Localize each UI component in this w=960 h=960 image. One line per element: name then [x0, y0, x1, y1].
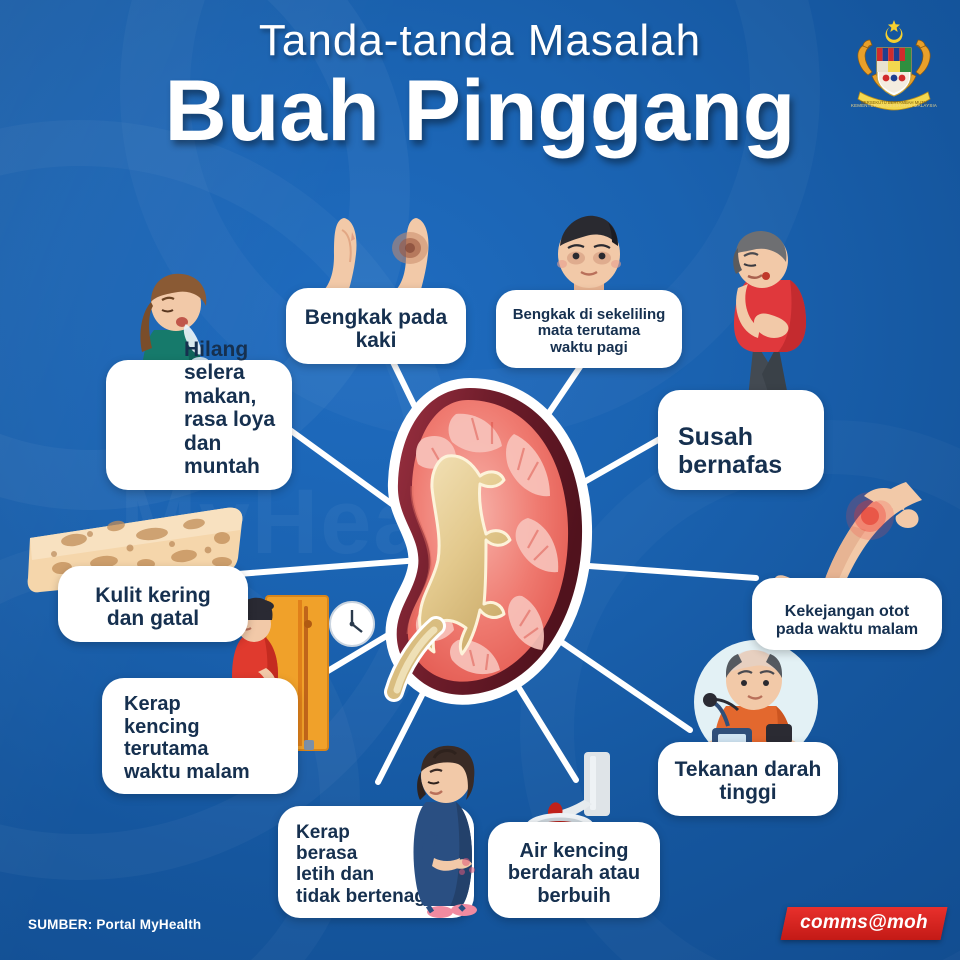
- symptom-card-tekanan-darah[interactable]: Tekanan darah tinggi: [658, 742, 838, 816]
- symptom-card-bengkak-kaki[interactable]: Bengkak pada kaki: [286, 288, 466, 364]
- symptom-label: Kulit kering dan gatal: [68, 584, 238, 631]
- page-title: Buah Pinggang: [0, 68, 960, 156]
- comms-moh-badge[interactable]: comms@moh: [781, 907, 948, 940]
- symptom-card-kerap-kencing[interactable]: Kerap kencing terutama waktu malam: [102, 678, 298, 794]
- symptom-label: Bengkak pada kaki: [296, 306, 456, 353]
- symptom-label: Tekanan darah tinggi: [668, 758, 828, 805]
- symptom-card-kerap-letih[interactable]: Kerap berasa letih dan tidak bertenaga: [278, 806, 474, 918]
- symptom-card-air-kencing[interactable]: Air kencing berdarah atau berbuih: [488, 822, 660, 918]
- source-credit: SUMBER: Portal MyHealth: [28, 917, 201, 932]
- symptom-label: Kerap berasa letih dan tidak bertenaga: [288, 822, 464, 907]
- symptom-label: Kekejangan otot pada waktu malam: [762, 603, 932, 639]
- symptom-label: Air kencing berdarah atau berbuih: [498, 840, 650, 907]
- malaysia-coat-of-arms-icon: BERSEKUTU BERTAMBAH MUTU KEMENTERIAN KES…: [846, 14, 942, 114]
- poster-header: Tanda-tanda Masalah Buah Pinggang: [0, 16, 960, 156]
- symptom-label: Susah bernafas: [668, 423, 814, 479]
- symptom-label: Kerap kencing terutama waktu malam: [112, 693, 288, 783]
- symptom-label: Hilang selera makan, rasa loya dan munta…: [116, 338, 282, 479]
- symptom-card-kekejangan-otot[interactable]: Kekejangan otot pada waktu malam: [752, 578, 942, 650]
- symptom-card-kulit-kering[interactable]: Kulit kering dan gatal: [58, 566, 248, 642]
- infographic-poster: MyHealth Tanda-tanda Masalah Buah Pingga…: [0, 0, 960, 960]
- symptom-card-bengkak-mata[interactable]: Bengkak di sekeliling mata terutama wakt…: [496, 290, 682, 368]
- emblem-caption: KEMENTERIAN KESIHATAN MALAYSIA: [846, 103, 942, 108]
- symptom-card-hilang-selera[interactable]: Hilang selera makan, rasa loya dan munta…: [106, 360, 292, 490]
- kidney-cross-section-icon: [352, 378, 612, 708]
- title-subline: Tanda-tanda Masalah: [0, 16, 960, 66]
- badge-label: comms@moh: [800, 912, 928, 934]
- symptom-label: Bengkak di sekeliling mata terutama wakt…: [506, 307, 672, 357]
- symptom-card-susah-bernafas[interactable]: Susah bernafas: [658, 390, 824, 490]
